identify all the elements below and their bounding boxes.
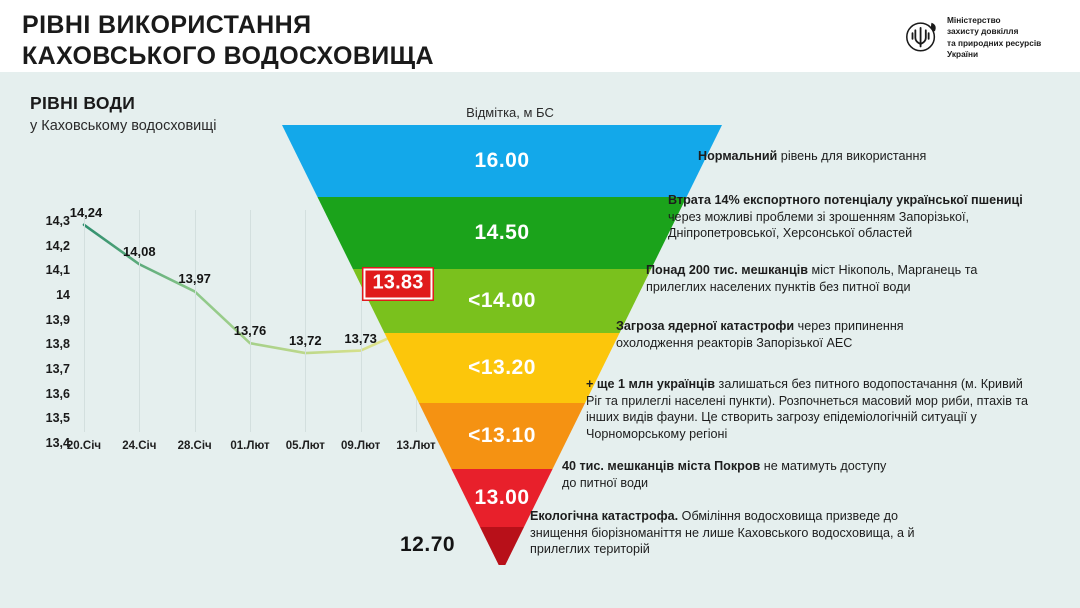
y-tick-label: 14,3 bbox=[14, 214, 70, 228]
annotation-body: рівень для використання bbox=[777, 149, 926, 163]
x-tick-label: 01.Лют bbox=[230, 440, 269, 452]
chart-title: РІВНІ ВОДИ bbox=[30, 93, 216, 114]
header: РІВНІ ВИКОРИСТАННЯ КАХОВСЬКОГО ВОДОСХОВИ… bbox=[0, 0, 1080, 72]
y-tick-label: 14,1 bbox=[14, 263, 70, 277]
y-tick-label: 13,7 bbox=[14, 362, 70, 376]
funnel-band-value: <14.00 bbox=[468, 289, 536, 313]
x-tick-label: 24.Січ bbox=[122, 440, 156, 452]
ministry-logo: Міністерство захисту довкілля та природн… bbox=[903, 16, 1073, 60]
y-tick-label: 13,4 bbox=[14, 436, 70, 450]
data-point-label: 14,08 bbox=[123, 244, 156, 259]
funnel-band: 16.00 bbox=[282, 125, 722, 197]
data-point-label: 13,76 bbox=[234, 323, 267, 338]
annotation-lead: + ще 1 млн українців bbox=[586, 377, 715, 391]
x-tick-label: 28.Січ bbox=[178, 440, 212, 452]
y-tick-label: 13,9 bbox=[14, 313, 70, 327]
annotation-lead: Загроза ядерної катастрофи bbox=[616, 319, 794, 333]
annotation-nuclear-threat: Загроза ядерної катастрофи через припине… bbox=[616, 318, 976, 351]
annotation-pokrov-40k: 40 тис. мешканців міста Покров не матиму… bbox=[562, 458, 902, 491]
funnel-caption: Відмітка, м БС bbox=[320, 105, 700, 120]
ministry-name: Міністерство захисту довкілля та природн… bbox=[947, 15, 1075, 60]
x-tick-label: 20.Січ bbox=[67, 440, 101, 452]
annotation-wheat-export-loss: Втрата 14% експортного потенціалу україн… bbox=[668, 192, 1028, 242]
annotation-normal-level: Нормальний рівень для використання bbox=[698, 148, 1028, 165]
annotation-lead: 40 тис. мешканців міста Покров bbox=[562, 459, 760, 473]
annotation-lead: Понад 200 тис. мешканців bbox=[646, 263, 808, 277]
funnel-band-value: 12.70 bbox=[400, 533, 455, 557]
annotation-ecological-disaster: Екологічна катастрофа. Обміління водосхо… bbox=[530, 508, 950, 558]
grid-line bbox=[250, 210, 251, 432]
grid-line bbox=[84, 210, 85, 432]
page-title: РІВНІ ВИКОРИСТАННЯ КАХОВСЬКОГО ВОДОСХОВИ… bbox=[22, 10, 434, 71]
chart-heading: РІВНІ ВОДИ у Каховському водосховищі bbox=[30, 93, 216, 134]
grid-line bbox=[195, 210, 196, 432]
annotation-1mln-ukrainians: + ще 1 млн українців залишаться без питн… bbox=[586, 376, 1038, 443]
trident-emblem-icon bbox=[903, 17, 941, 55]
funnel-band-value: <13.10 bbox=[468, 424, 536, 448]
funnel-band-value: 14.50 bbox=[474, 221, 529, 245]
data-point-label: 14,24 bbox=[70, 205, 103, 220]
y-tick-label: 13,6 bbox=[14, 387, 70, 401]
annotation-drinking-water-200k: Понад 200 тис. мешканців міст Нікополь, … bbox=[646, 262, 998, 295]
annotation-lead: Втрата 14% експортного потенціалу україн… bbox=[668, 193, 1023, 207]
annotation-body: через можливі проблеми зі зрошенням Запо… bbox=[668, 210, 969, 241]
funnel-band: 14.50 bbox=[282, 197, 722, 269]
y-tick-label: 13,8 bbox=[14, 337, 70, 351]
y-tick-label: 13,5 bbox=[14, 411, 70, 425]
infographic-page: РІВНІ ВИКОРИСТАННЯ КАХОВСЬКОГО ВОДОСХОВИ… bbox=[0, 0, 1080, 608]
funnel-band-value: 16.00 bbox=[474, 149, 529, 173]
funnel-band-value: <13.20 bbox=[468, 356, 536, 380]
y-tick-label: 14,2 bbox=[14, 239, 70, 253]
annotation-lead: Нормальний bbox=[698, 149, 777, 163]
funnel-band-value: 13.00 bbox=[474, 486, 529, 510]
data-point-label: 13,97 bbox=[178, 271, 211, 286]
chart-subtitle: у Каховському водосховищі bbox=[30, 118, 216, 134]
y-tick-label: 14 bbox=[14, 288, 70, 302]
current-level-badge: 13.83 bbox=[363, 268, 432, 299]
annotation-lead: Екологічна катастрофа. bbox=[530, 509, 678, 523]
